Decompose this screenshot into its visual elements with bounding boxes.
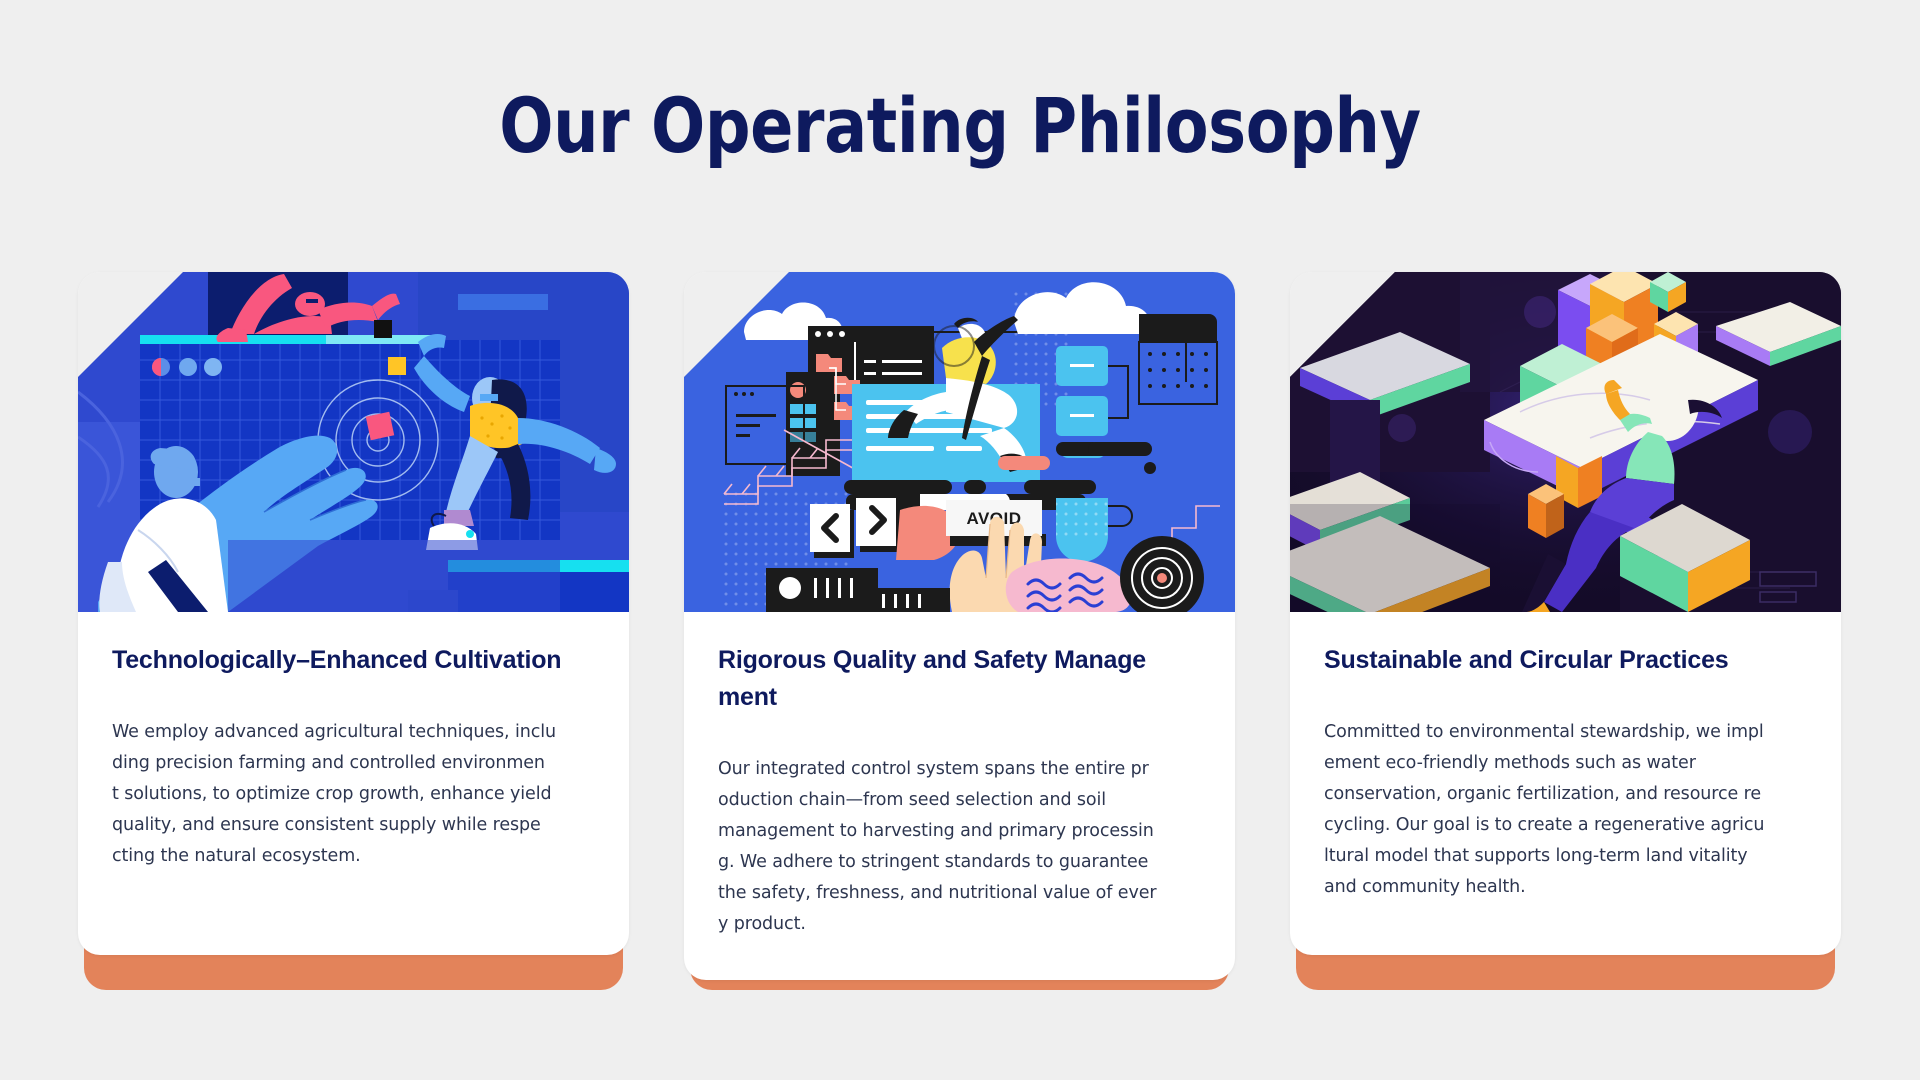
card-title: Technologically–Enhanced Cultivation [112, 642, 595, 679]
card-body: Technologically–Enhanced Cultivation We … [78, 612, 629, 912]
philosophy-card-grid: Technologically–Enhanced Cultivation We … [78, 272, 1842, 980]
card-body: Sustainable and Circular Practices Commi… [1290, 612, 1841, 943]
card-title: Sustainable and Circular Practices [1324, 642, 1807, 679]
blue-tech-dashboard-illustration [78, 272, 629, 612]
card-body: Rigorous Quality and Safety Manage ment … [684, 612, 1235, 980]
card-description: Committed to environmental stewardship, … [1324, 717, 1807, 903]
philosophy-card[interactable]: AVOID [684, 272, 1235, 980]
card-inner: Technologically–Enhanced Cultivation We … [78, 272, 629, 955]
card-description: Our integrated control system spans the … [718, 754, 1201, 940]
card-description: We employ advanced agricultural techniqu… [112, 717, 595, 872]
page-title: Our Operating Philosophy [154, 78, 1767, 174]
card-title: Rigorous Quality and Safety Manage ment [718, 642, 1201, 716]
card-inner: Sustainable and Circular Practices Commi… [1290, 272, 1841, 955]
isometric-purple-blocks-illustration [1290, 272, 1841, 612]
philosophy-card[interactable]: Technologically–Enhanced Cultivation We … [78, 272, 629, 980]
philosophy-card[interactable]: Sustainable and Circular Practices Commi… [1290, 272, 1841, 980]
blue-workflow-avoid-illustration: AVOID [684, 272, 1235, 612]
card-inner: AVOID [684, 272, 1235, 980]
